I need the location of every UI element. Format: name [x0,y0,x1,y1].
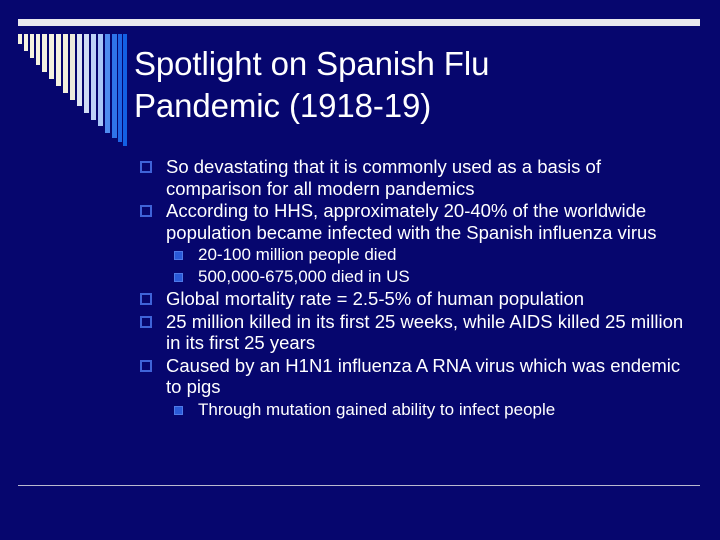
bullet-text: 20-100 million people died [198,244,694,265]
decoration-bar [84,34,89,113]
top-divider-rule [18,19,700,26]
slide-body-list: So devastating that it is commonly used … [138,156,694,421]
bullet-text: Through mutation gained ability to infec… [198,399,694,420]
bullet-item: 20-100 million people died [138,244,694,265]
bullet-item: So devastating that it is commonly used … [138,156,694,199]
filled-square-bullet-icon [174,406,183,415]
decoration-bar [30,34,34,58]
bullet-text: Global mortality rate = 2.5-5% of human … [166,288,694,310]
hollow-square-bullet-icon [140,293,152,305]
bullet-item: Caused by an H1N1 influenza A RNA virus … [138,355,694,398]
decoration-bar [118,34,122,142]
decoration-bar [70,34,75,100]
bullet-text: 500,000-675,000 died in US [198,266,694,287]
decoration-bar [91,34,96,120]
filled-square-bullet-icon [174,273,183,282]
presentation-slide: Spotlight on Spanish Flu Pandemic (1918-… [0,0,720,540]
decoration-bar [18,34,22,44]
hollow-square-bullet-icon [140,316,152,328]
descending-bars-graphic [18,34,124,146]
bullet-item: 25 million killed in its first 25 weeks,… [138,311,694,354]
bullet-text: According to HHS, approximately 20-40% o… [166,200,694,243]
bullet-item: Global mortality rate = 2.5-5% of human … [138,288,694,310]
decoration-bar [42,34,47,72]
bullet-item: Through mutation gained ability to infec… [138,399,694,420]
bullet-item: 500,000-675,000 died in US [138,266,694,287]
hollow-square-bullet-icon [140,205,152,217]
bullet-text: 25 million killed in its first 25 weeks,… [166,311,694,354]
slide-title: Spotlight on Spanish Flu Pandemic (1918-… [134,43,694,127]
hollow-square-bullet-icon [140,360,152,372]
bullet-text: Caused by an H1N1 influenza A RNA virus … [166,355,694,398]
decoration-bar [49,34,54,79]
slide-title-line-2: Pandemic (1918-19) [134,85,694,127]
bullet-text: So devastating that it is commonly used … [166,156,694,199]
decoration-bar [123,34,127,146]
bullet-item: According to HHS, approximately 20-40% o… [138,200,694,243]
bottom-divider-rule [18,485,700,486]
slide-title-line-1: Spotlight on Spanish Flu [134,43,694,85]
decoration-bar [105,34,110,133]
decoration-bar [63,34,68,93]
decoration-bar [24,34,28,51]
decoration-bar [56,34,61,86]
decoration-bar [77,34,82,106]
hollow-square-bullet-icon [140,161,152,173]
decoration-bar [36,34,40,65]
decoration-bar [98,34,103,126]
decoration-bar [112,34,117,138]
filled-square-bullet-icon [174,251,183,260]
